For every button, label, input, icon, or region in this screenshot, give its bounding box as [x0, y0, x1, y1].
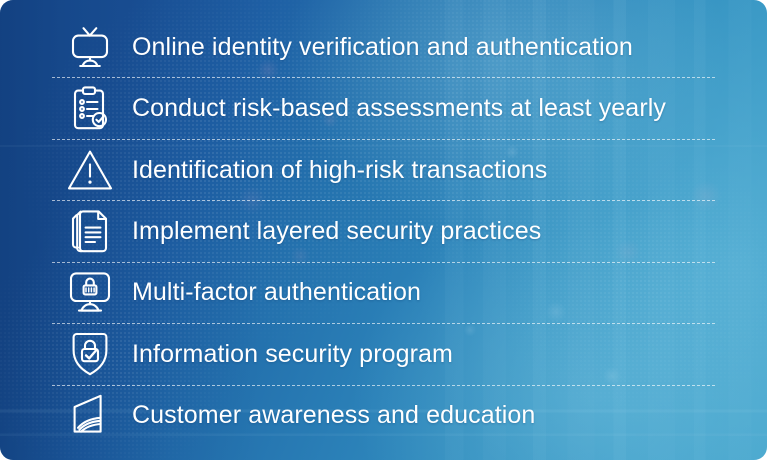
open-book-icon: [62, 390, 118, 440]
list-item: Information security program: [0, 323, 767, 384]
list-item: Customer awareness and education: [0, 385, 767, 446]
tv-monitor-icon: [62, 22, 118, 72]
clipboard-check-icon: [62, 83, 118, 133]
list-item-label: Customer awareness and education: [118, 400, 535, 430]
list-item: Implement layered security practices: [0, 200, 767, 261]
shield-lock-check-icon: [62, 329, 118, 379]
list-item: Multi-factor authentication: [0, 262, 767, 323]
list-item: Online identity verification and authent…: [0, 16, 767, 77]
stacked-documents-icon: [62, 206, 118, 256]
list-item-label: Information security program: [118, 339, 453, 369]
list-item-label: Identification of high-risk transactions: [118, 155, 547, 185]
monitor-lock-icon: [62, 267, 118, 317]
list-item-label: Implement layered security practices: [118, 216, 541, 246]
list-item-label: Conduct risk-based assessments at least …: [118, 93, 666, 123]
list-item: Conduct risk-based assessments at least …: [0, 77, 767, 138]
warning-triangle-icon: [62, 145, 118, 195]
requirements-list: Online identity verification and authent…: [0, 0, 767, 460]
security-requirements-infographic: Online identity verification and authent…: [0, 0, 767, 460]
list-item-label: Online identity verification and authent…: [118, 32, 633, 62]
list-item: Identification of high-risk transactions: [0, 139, 767, 200]
list-item-label: Multi-factor authentication: [118, 277, 421, 307]
